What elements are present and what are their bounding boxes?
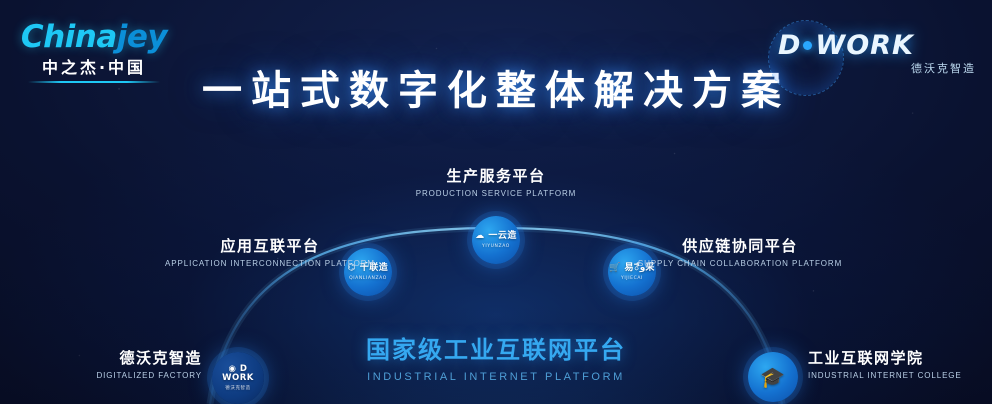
label-zh-production: 生产服务平台 — [386, 167, 606, 186]
label-en-supply: SUPPLY CHAIN COLLABORATION PLATFORM — [615, 259, 865, 269]
chinajey-wordmark: Chinajey — [14, 22, 174, 53]
node-chip-sub-production: YIYUNZAO — [475, 244, 517, 249]
cloud-icon: ☁ — [475, 231, 485, 241]
label-application-interconnection-platform: 应用互联平台 APPLICATION INTERCONNECTION PLATF… — [155, 237, 385, 269]
dwork-wordmark-cn: 德沃克智造 — [911, 60, 976, 76]
dwork-wordmark-tail: WORK — [815, 30, 913, 61]
node-chip-label-production: 一云造 — [488, 231, 517, 241]
node-chip-sub-application: QIANLIANZAO — [348, 276, 389, 281]
label-supply-chain-collaboration-platform: 供应链协同平台 SUPPLY CHAIN COLLABORATION PLATF… — [615, 237, 865, 269]
label-en-production: PRODUCTION SERVICE PLATFORM — [386, 189, 606, 199]
label-production-service-platform: 生产服务平台 PRODUCTION SERVICE PLATFORM — [386, 167, 606, 199]
center-caption-zh: 国家级工业互联网平台 — [0, 330, 992, 365]
chinajey-wordmark-accent: jey — [117, 19, 167, 55]
dwork-wordmark: DWORK — [778, 30, 914, 61]
node-production-service-platform[interactable]: ☁ 一云造 YIYUNZAO — [472, 216, 520, 264]
node-chip-sub-factory: 德沃克智造 — [212, 386, 264, 391]
chinajey-wordmark-main: China — [21, 19, 117, 55]
center-caption-en: INDUSTRIAL INTERNET PLATFORM — [0, 371, 992, 383]
slide-canvas: Chinajey 中之杰·中国 一站式数字化整体解决方案 DWORK 德沃克智造 — [0, 0, 992, 404]
dwork-logo-dot-icon — [803, 41, 812, 50]
center-caption: 国家级工业互联网平台 INDUSTRIAL INTERNET PLATFORM — [0, 330, 992, 383]
node-chip-sub-supply: YIJIECAI — [609, 276, 655, 281]
label-zh-supply: 供应链协同平台 — [615, 237, 865, 256]
label-zh-application: 应用互联平台 — [155, 237, 385, 256]
dwork-logo: DWORK 德沃克智造 — [770, 24, 980, 84]
node-chip-production: ☁ 一云造 YIYUNZAO — [475, 231, 517, 249]
dwork-wordmark-d: D — [778, 30, 801, 61]
label-en-application: APPLICATION INTERCONNECTION PLATFORM — [155, 259, 385, 269]
